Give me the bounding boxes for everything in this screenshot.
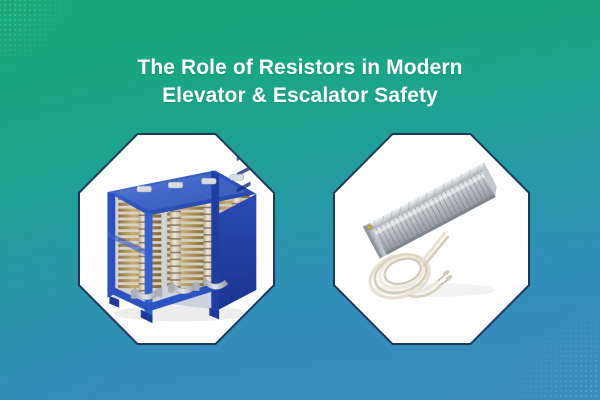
page-title-line-1: The Role of Resistors in Modern	[70, 54, 530, 82]
aluminium-resistor-image	[335, 135, 528, 343]
page-title-line-2: Elevator & Escalator Safety	[70, 82, 530, 110]
resistor-bank-image	[80, 135, 273, 343]
right-product-card[interactable]	[333, 133, 530, 345]
page-title: The Role of Resistors in Modern Elevator…	[0, 54, 600, 110]
octagon-fill	[335, 135, 528, 343]
article-hero-banner: The Role of Resistors in Modern Elevator…	[0, 0, 600, 400]
octagon-fill	[80, 135, 273, 343]
left-product-card[interactable]	[78, 133, 275, 345]
